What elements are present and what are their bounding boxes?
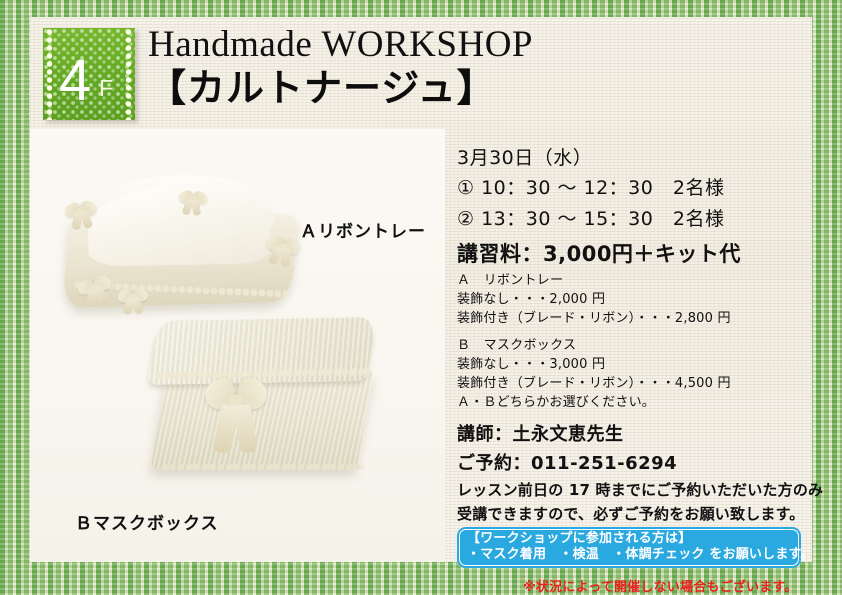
product-label-b: Ｂマスクボックス (75, 509, 219, 534)
covid-notice-box: 【ワークショップに参加される方は】 ・マスク着用 ・検温 ・体調チェック をお願… (457, 527, 801, 568)
covid-notice-line-2: ・マスク着用 ・検温 ・体調チェック をお願いします。 (467, 546, 814, 564)
contact-spacer (457, 412, 802, 420)
reservation-note-2: 受講できますので、必ずご予約をお願い致します。 (457, 502, 802, 526)
workshop-flyer: 4 F Handmade WORKSHOP 【カルトナージュ】 (0, 0, 842, 595)
reservation-phone[interactable]: ご予約：011-251-6294 (457, 449, 802, 478)
kit-item-b-heading: Ｂ マスクボックス (457, 336, 802, 355)
product-photo-column: Ａリボントレー Ｂマスクボックス (30, 129, 445, 562)
product-label-a: Ａリボントレー (300, 217, 426, 242)
kit-item-a-decorated: 装飾付き（ブレード・リボン）・・・2,800 円 (457, 309, 802, 328)
flyer-header: 4 F Handmade WORKSHOP 【カルトナージュ】 (30, 17, 812, 129)
tray-ribbon-bow (264, 232, 303, 265)
cancellation-note: ※状況によって開催しない場合もございます。 (523, 576, 798, 595)
title-japanese: 【カルトナージュ】 (148, 65, 533, 111)
schedule-slot-1: ① 10：30 ～ 12：30 2名様 (457, 173, 802, 204)
kit-spacer (457, 328, 802, 336)
tray-ribbon-bow (63, 198, 98, 227)
schedule-date: 3月30日（水） (457, 143, 802, 173)
box-braid-trim-bottom (160, 463, 363, 471)
title-block: Handmade WORKSHOP 【カルトナージュ】 (148, 23, 533, 111)
info-column: 3月30日（水） ① 10：30 ～ 12：30 2名様 ② 13：30 ～ 1… (445, 129, 812, 562)
fee-headline: 講習料：3,000円＋キット代 (457, 237, 802, 271)
badge-scallop-left-icon (46, 28, 53, 120)
product-photo-ribbon-tray (48, 157, 318, 322)
kit-item-b-decorated: 装飾付き（ブレード・リボン）・・・4,500 円 (457, 374, 802, 393)
kit-item-b-plain: 装飾なし・・・3,000 円 (457, 355, 802, 374)
kit-item-a-plain: 装飾なし・・・2,000 円 (457, 290, 802, 309)
tray-ribbon-bow (117, 285, 149, 310)
tray-ribbon-bow (178, 188, 208, 212)
kit-item-a-heading: Ａ リボントレー (457, 271, 802, 290)
reservation-note-1: レッスン前日の 17 時までにご予約いただいた方のみ (457, 478, 802, 502)
kit-choose-note: Ａ・Ｂどちらかお選びください。 (457, 393, 802, 412)
badge-scallop-right-icon (125, 28, 132, 120)
schedule-slot-2: ② 13：30 ～ 15：30 2名様 (457, 204, 802, 235)
floor-badge: 4 F (43, 28, 135, 120)
floor-number: 4 (59, 52, 91, 110)
instructor-name: 講師：土永文恵先生 (457, 420, 802, 449)
product-photo-mask-box (145, 319, 395, 499)
title-english: Handmade WORKSHOP (148, 23, 533, 67)
floor-suffix: F (99, 77, 113, 100)
flyer-paper: 4 F Handmade WORKSHOP 【カルトナージュ】 (30, 17, 812, 562)
box-ribbon-bow (205, 379, 267, 455)
